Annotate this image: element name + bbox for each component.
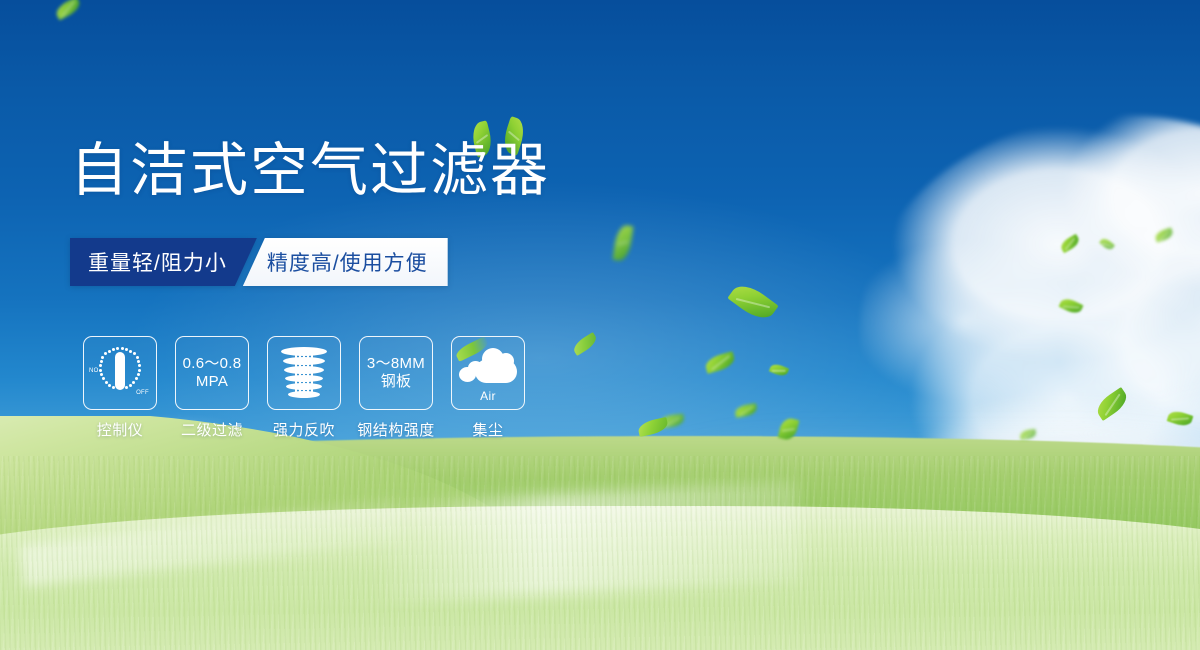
feature-icon-box: Air [451, 336, 525, 410]
subtitle-ribbon: 重量轻/阻力小 精度高/使用方便 [70, 238, 448, 286]
dial-label-on: NO [89, 368, 99, 374]
dial-icon: NO OFF [90, 344, 150, 402]
dial-dot [135, 377, 138, 380]
dial-dot [132, 381, 135, 384]
grass-texture [0, 456, 1200, 650]
subtitle-left-segment: 重量轻/阻力小 [70, 238, 257, 286]
grass-field [0, 416, 1200, 650]
feature-item-dust-collection[interactable]: Air 集尘 [446, 336, 530, 440]
feature-icon-box: 0.6～0.8 MPA [175, 336, 249, 410]
feature-caption: 集尘 [472, 419, 503, 440]
dial-dot [129, 384, 132, 387]
dial-dot [137, 360, 140, 363]
steel-value-line2: 钢板 [381, 373, 412, 391]
dial-dot [100, 360, 103, 363]
dial-dot [108, 384, 111, 387]
dial-dot [99, 369, 102, 372]
dial-dot [125, 386, 128, 389]
cloud-shape [459, 351, 517, 383]
steel-value-line1: 3～8MM [367, 355, 425, 373]
dial-dot [133, 352, 136, 355]
filter-ring [283, 357, 325, 365]
dial-pointer [115, 352, 125, 390]
dial-dot [138, 369, 141, 372]
dial-dot [125, 348, 128, 351]
feature-list: NO OFF 控制仪 0.6～0.8 MPA 二级过滤 [78, 336, 530, 440]
filter-ring [286, 383, 322, 390]
pressure-value-line2: MPA [196, 373, 228, 391]
page-title: 自洁式空气过滤器 [70, 142, 550, 200]
filter-ring [285, 375, 323, 382]
dial-dot [105, 381, 108, 384]
dial-dot [136, 356, 139, 359]
dial-label-off: OFF [136, 390, 149, 396]
subtitle-right-segment: 精度高/使用方便 [243, 238, 448, 286]
pressure-value-line1: 0.6～0.8 [183, 355, 242, 373]
feature-caption: 二级过滤 [181, 419, 243, 440]
dial-dot [100, 373, 103, 376]
dial-dot [137, 373, 140, 376]
filter-ring [288, 391, 320, 398]
dial-dot [108, 350, 111, 353]
feature-item-steel-strength[interactable]: 3～8MM 钢板 钢结构强度 [354, 336, 438, 440]
dial-dot [121, 347, 124, 350]
feature-icon-box [267, 336, 341, 410]
feature-item-controller[interactable]: NO OFF 控制仪 [78, 336, 162, 440]
dial-dot [102, 377, 105, 380]
feature-caption: 强力反吹 [273, 419, 335, 440]
filter-ring [281, 347, 327, 356]
cloud-air-icon: Air [457, 345, 519, 401]
filter-stack-icon [279, 345, 329, 401]
product-banner: 自洁式空气过滤器 重量轻/阻力小 精度高/使用方便 NO OFF 控制仪 0.6… [0, 0, 1200, 650]
feature-caption: 钢结构强度 [357, 419, 435, 440]
feature-item-strong-backblow[interactable]: 强力反吹 [262, 336, 346, 440]
feature-icon-box: NO OFF [83, 336, 157, 410]
feature-icon-box: 3～8MM 钢板 [359, 336, 433, 410]
feature-caption: 控制仪 [97, 419, 144, 440]
feature-item-two-stage-filter[interactable]: 0.6～0.8 MPA 二级过滤 [170, 336, 254, 440]
dial-dot [112, 348, 115, 351]
cloud-puff-mid [468, 361, 483, 375]
filter-ring [284, 366, 324, 374]
dial-dot [138, 364, 141, 367]
dial-dot [104, 352, 107, 355]
dial-dot [116, 347, 119, 350]
dial-dot [101, 356, 104, 359]
dial-dot [129, 350, 132, 353]
dial-dot [99, 364, 102, 367]
air-label: Air [457, 389, 519, 403]
